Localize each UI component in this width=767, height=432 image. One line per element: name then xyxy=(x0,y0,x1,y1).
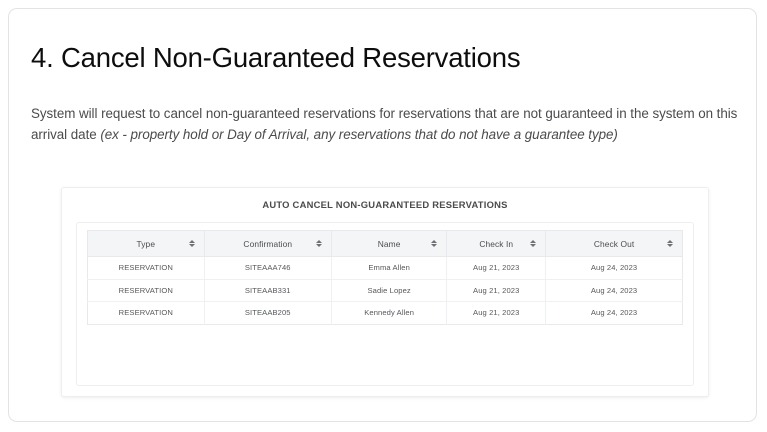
cell-name: Emma Allen xyxy=(331,257,446,280)
sort-updown-icon[interactable] xyxy=(530,240,536,247)
column-header-type[interactable]: Type xyxy=(88,231,205,257)
table-header-row: Type Confirmation xyxy=(88,231,683,257)
column-header-confirmation[interactable]: Confirmation xyxy=(204,231,331,257)
cell-check-out: Aug 24, 2023 xyxy=(546,302,683,325)
page-title: 4. Cancel Non-Guaranteed Reservations xyxy=(31,42,520,74)
column-header-name-label: Name xyxy=(378,239,401,249)
cell-type: RESERVATION xyxy=(88,279,205,302)
sort-updown-icon[interactable] xyxy=(189,240,195,247)
sort-updown-icon[interactable] xyxy=(667,240,673,247)
cell-type: RESERVATION xyxy=(88,257,205,280)
column-header-name[interactable]: Name xyxy=(331,231,446,257)
slide-frame: 4. Cancel Non-Guaranteed Reservations Sy… xyxy=(8,8,757,422)
column-header-type-label: Type xyxy=(137,239,156,249)
description-example: (ex - property hold or Day of Arrival, a… xyxy=(100,127,618,142)
table-panel: Type Confirmation xyxy=(76,222,694,386)
column-header-check-out[interactable]: Check Out xyxy=(546,231,683,257)
reservations-table: Type Confirmation xyxy=(87,230,683,325)
cell-check-out: Aug 24, 2023 xyxy=(546,279,683,302)
sort-updown-icon[interactable] xyxy=(431,240,437,247)
column-header-confirmation-label: Confirmation xyxy=(243,239,292,249)
table-row[interactable]: RESERVATION SITEAAB205 Kennedy Allen Aug… xyxy=(88,302,683,325)
table-row[interactable]: RESERVATION SITEAAA746 Emma Allen Aug 21… xyxy=(88,257,683,280)
slide-description: System will request to cancel non-guaran… xyxy=(31,103,746,145)
column-header-check-out-label: Check Out xyxy=(594,239,634,249)
cell-confirmation: SITEAAA746 xyxy=(204,257,331,280)
column-header-check-in-label: Check In xyxy=(479,239,513,249)
cell-check-in: Aug 21, 2023 xyxy=(447,279,546,302)
cell-check-in: Aug 21, 2023 xyxy=(447,257,546,280)
cell-type: RESERVATION xyxy=(88,302,205,325)
screenshot-card: AUTO CANCEL NON-GUARANTEED RESERVATIONS … xyxy=(61,187,709,397)
cell-check-out: Aug 24, 2023 xyxy=(546,257,683,280)
column-header-check-in[interactable]: Check In xyxy=(447,231,546,257)
cell-check-in: Aug 21, 2023 xyxy=(447,302,546,325)
cell-name: Kennedy Allen xyxy=(331,302,446,325)
cell-name: Sadie Lopez xyxy=(331,279,446,302)
cell-confirmation: SITEAAB205 xyxy=(204,302,331,325)
table-title: AUTO CANCEL NON-GUARANTEED RESERVATIONS xyxy=(62,199,708,210)
table-wrapper: Type Confirmation xyxy=(87,230,683,325)
cell-confirmation: SITEAAB331 xyxy=(204,279,331,302)
sort-updown-icon[interactable] xyxy=(316,240,322,247)
table-row[interactable]: RESERVATION SITEAAB331 Sadie Lopez Aug 2… xyxy=(88,279,683,302)
